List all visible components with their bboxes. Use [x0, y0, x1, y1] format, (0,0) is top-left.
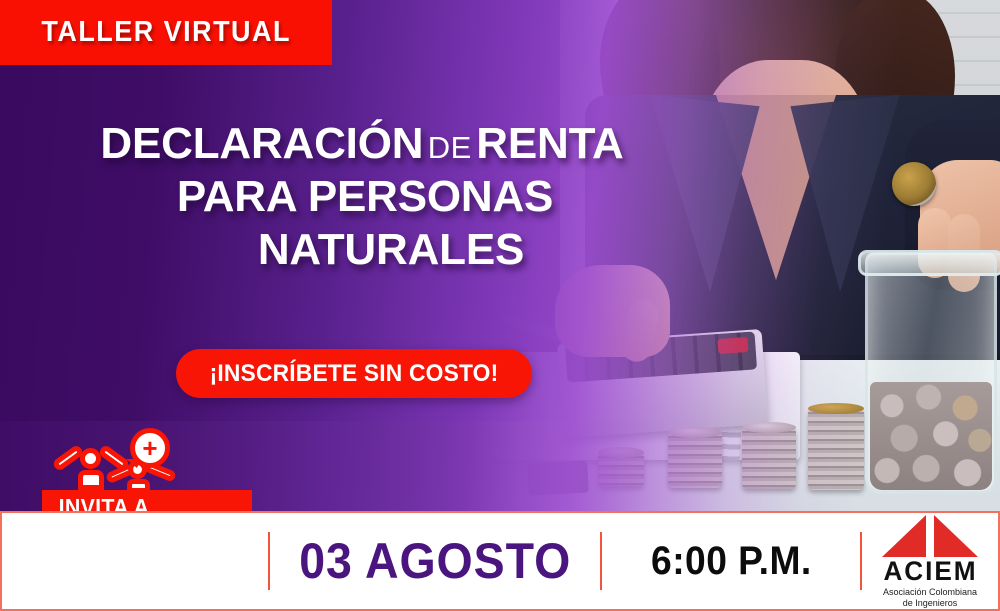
person-torso-large [78, 470, 104, 490]
footer-bar: 03 AGOSTO 6:00 P.M. ACIEM Asociación Col… [0, 511, 1000, 611]
plus-symbol: + [142, 435, 157, 461]
aciem-triangle-left [882, 515, 926, 557]
aciem-triangle-right [934, 515, 978, 557]
aciem-subtitle-line-2: de Ingenieros [883, 598, 977, 609]
top-tab-label: TALLER VIRTUAL [41, 16, 291, 49]
headline-line-2: PARA PERSONAS [78, 175, 652, 220]
aciem-subtitle-line-1: Asociación Colombiana [883, 587, 977, 598]
aciem-logo-subtitle: Asociación Colombiana de Ingenieros [883, 587, 977, 610]
event-time-label: 6:00 P.M. [651, 539, 812, 584]
register-cta-label: ¡INSCRÍBETE SIN COSTO! [210, 360, 499, 388]
aciem-logo-name: ACIEM [883, 558, 977, 585]
aciem-logo: ACIEM Asociación Colombiana de Ingeniero… [862, 513, 998, 610]
promo-banner: TALLER VIRTUAL DECLARACIÓN DE RENTA PARA… [0, 0, 1000, 611]
invite-people-icon: + [46, 428, 252, 490]
headline-line-1: DECLARACIÓN DE RENTA [72, 122, 652, 167]
person-torso-small [127, 479, 150, 493]
aciem-triangle-icon [882, 515, 978, 557]
headline-de: DE [428, 130, 472, 165]
headline-renta: RENTA [476, 119, 623, 168]
event-date-label: 03 AGOSTO [299, 532, 571, 590]
plus-bubble-icon: + [130, 428, 170, 468]
event-date: 03 AGOSTO [270, 532, 600, 590]
top-tab-taller-virtual: TALLER VIRTUAL [0, 0, 332, 65]
headline-declaracion: DECLARACIÓN [100, 119, 423, 168]
register-cta-button[interactable]: ¡INSCRÍBETE SIN COSTO! [176, 349, 532, 398]
person-head-large [80, 448, 101, 469]
headline-line-3: NATURALES [130, 228, 652, 273]
headline-block: DECLARACIÓN DE RENTA PARA PERSONAS NATUR… [72, 122, 652, 281]
event-time: 6:00 P.M. [602, 539, 860, 584]
